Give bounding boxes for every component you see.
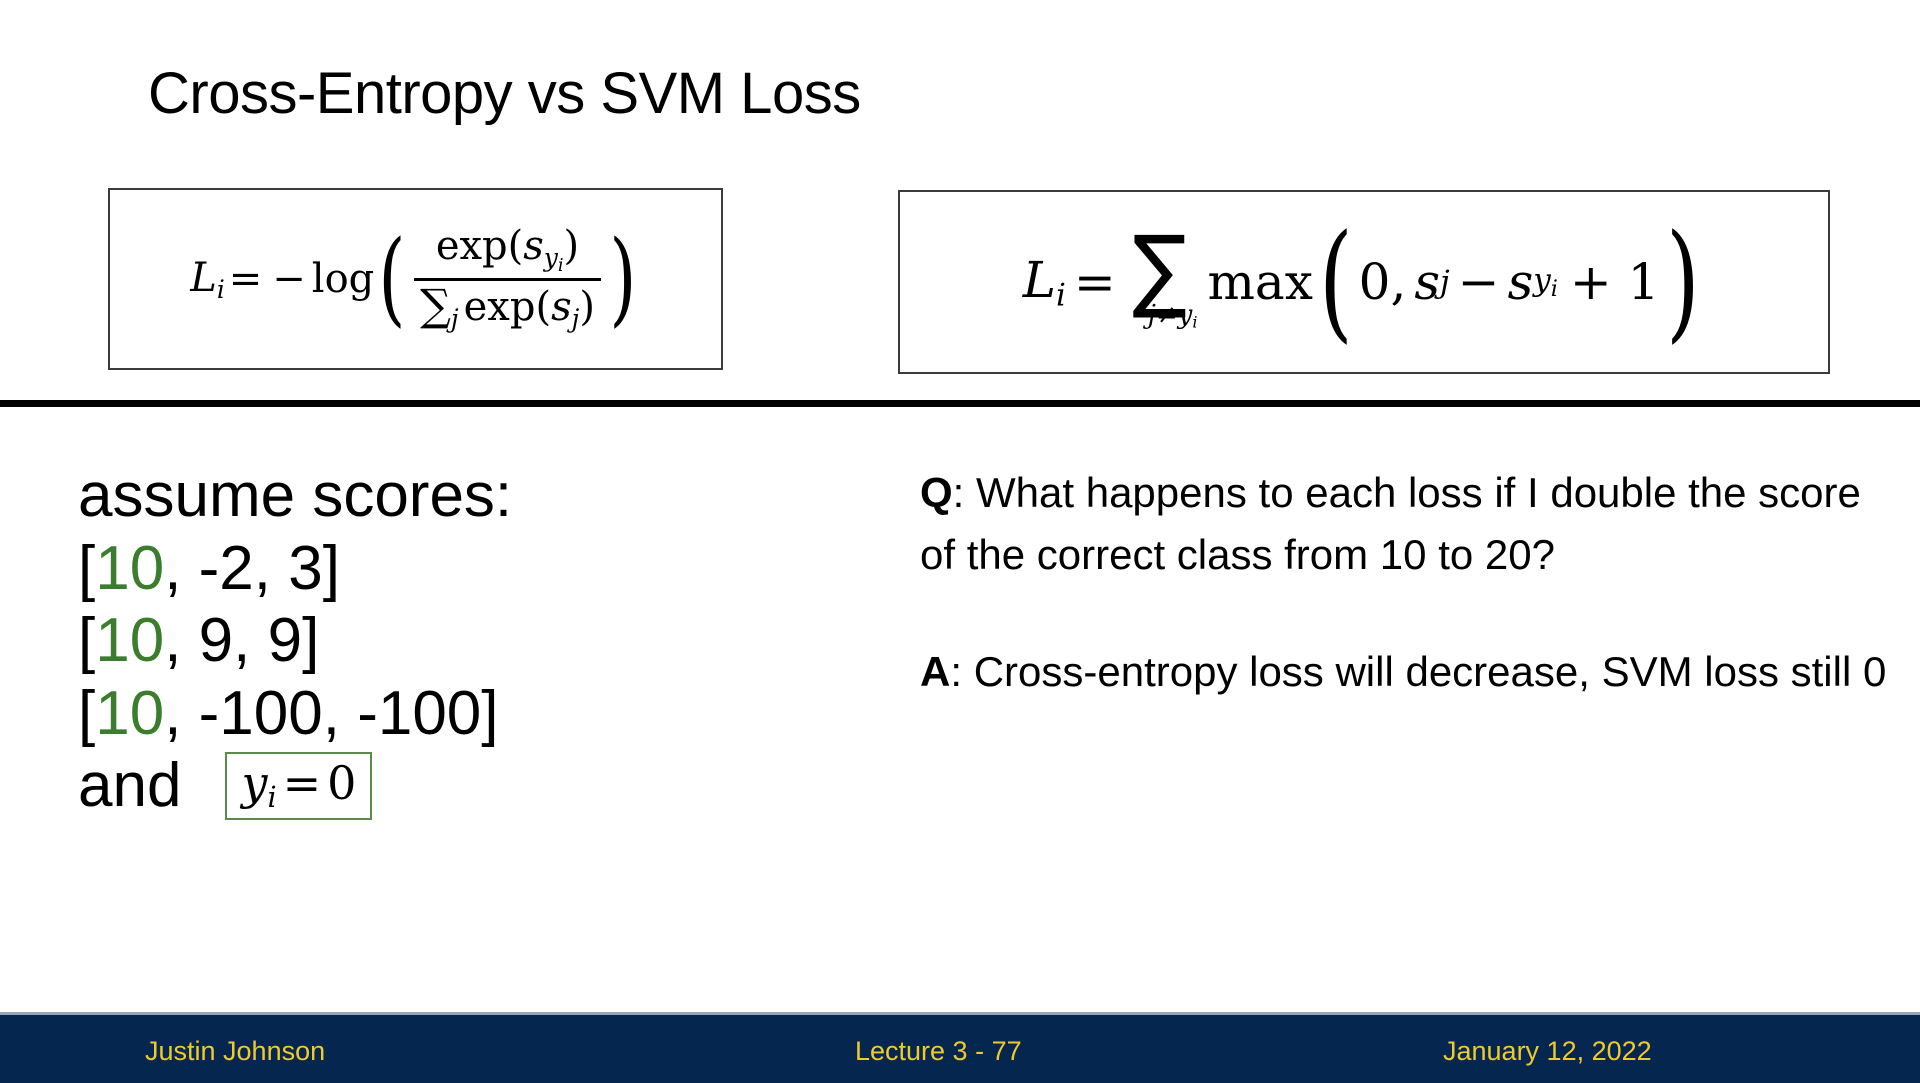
svm-lhs-symbol: L [1023,251,1056,309]
footer-author: Justin Johnson [145,1036,325,1067]
ce-numerator: exp(syi) [430,225,585,278]
svm-arg-syi-sub: y [1533,262,1551,298]
question-text: What happens to each loss if I double th… [920,469,1861,578]
ce-lhs-symbol: L [190,255,217,301]
footer-lecture-number: Lecture 3 - 77 [855,1036,1022,1067]
score-row-1-rest: , -2, 3] [164,534,340,603]
score-row-3-rest: , -100, -100] [164,679,498,748]
scores-column: assume scores: [10, -2, 3] [10, 9, 9] [1… [78,460,758,823]
label-index-value: 0 [327,756,356,810]
ce-den-exp: exp [464,284,536,330]
question-label: Q [920,469,953,516]
svm-equals-sign: = [1074,253,1116,311]
scores-heading: assume scores: [78,460,758,533]
answer-block: A: Cross-entropy loss will decrease, SVM… [920,641,1890,703]
score-row-2-correct-class: 10 [95,606,164,675]
svm-lhs-subscript: i [1056,277,1066,313]
score-row-2: [10, 9, 9] [78,605,758,678]
qa-column: Q: What happens to each loss if I double… [920,462,1890,703]
svm-sum-limit-sub: i [1192,312,1197,331]
label-index-var: y [241,756,267,810]
score-row-2-open: [ [78,606,95,675]
label-row: and yi=0 [78,750,758,823]
svm-arg-syi: s [1508,253,1534,311]
svm-sigma-glyph: ∑ [1132,230,1187,310]
horizontal-divider [0,400,1920,407]
svm-formula-box: Li = ∑ j≠yi max(0,sj−syi+ 1) [898,190,1830,374]
svm-plus-one: + 1 [1570,253,1660,311]
answer-text: Cross-entropy loss will decrease, SVM lo… [974,648,1887,695]
svm-formula: Li = ∑ j≠yi max(0,sj−syi+ 1) [1023,235,1706,330]
svm-close-paren: ) [1665,244,1699,321]
svm-open-paren: ( [1319,244,1353,321]
score-row-1-correct-class: 10 [95,534,164,603]
ce-denominator: ∑jexp(sj) [414,281,601,332]
ce-log-operator: log [312,256,374,302]
svm-max-operator: max [1207,253,1312,311]
cross-entropy-formula-box: Li = − log ( exp(syi) ∑jexp(sj) ) [108,188,723,370]
ce-lhs-subscript: i [217,274,225,303]
answer-separator: : [950,648,973,695]
footer-date: January 12, 2022 [1443,1036,1652,1067]
label-index-formula: yi=0 [241,756,356,814]
svm-minus-sign: − [1458,253,1500,311]
score-row-1: [10, -2, 3] [78,533,758,606]
svm-summation: ∑ j≠yi [1122,235,1198,330]
answer-label: A [920,648,950,695]
question-block: Q: What happens to each loss if I double… [920,462,1890,585]
label-index-box: yi=0 [225,752,372,820]
ce-den-sigma-index: j [451,304,459,333]
score-row-3-correct-class: 10 [95,679,164,748]
svm-arg-sj-sub: j [1440,264,1450,300]
ce-fraction: exp(syi) ∑jexp(sj) [414,225,601,332]
score-row-3-open: [ [78,679,95,748]
ce-open-paren: ( [379,248,406,309]
label-index-equals: = [283,756,322,810]
ce-close-paren: ) [609,248,636,309]
score-row-3: [10, -100, -100] [78,678,758,751]
ce-num-score: s [523,223,544,269]
question-separator: : [953,469,976,516]
ce-num-exp: exp [436,223,508,269]
footer-bar: Justin Johnson Lecture 3 - 77 January 12… [0,1012,1920,1083]
svm-arg-zero: 0, [1359,253,1407,311]
score-row-1-open: [ [78,534,95,603]
page-title: Cross-Entropy vs SVM Loss [148,60,861,127]
score-row-2-rest: , 9, 9] [164,606,319,675]
cross-entropy-formula: Li = − log ( exp(syi) ∑jexp(sj) ) [190,225,640,332]
and-label: and [78,750,181,823]
ce-equals-sign: = [229,256,263,302]
svm-arg-syi-subsub: i [1551,276,1558,302]
ce-num-score-sub: y [544,243,558,272]
label-index-var-sub: i [267,781,276,814]
svm-arg-sj: s [1414,253,1440,311]
ce-minus-sign: − [272,256,306,302]
ce-den-sigma: ∑ [420,281,451,331]
ce-den-score: s [551,284,572,330]
